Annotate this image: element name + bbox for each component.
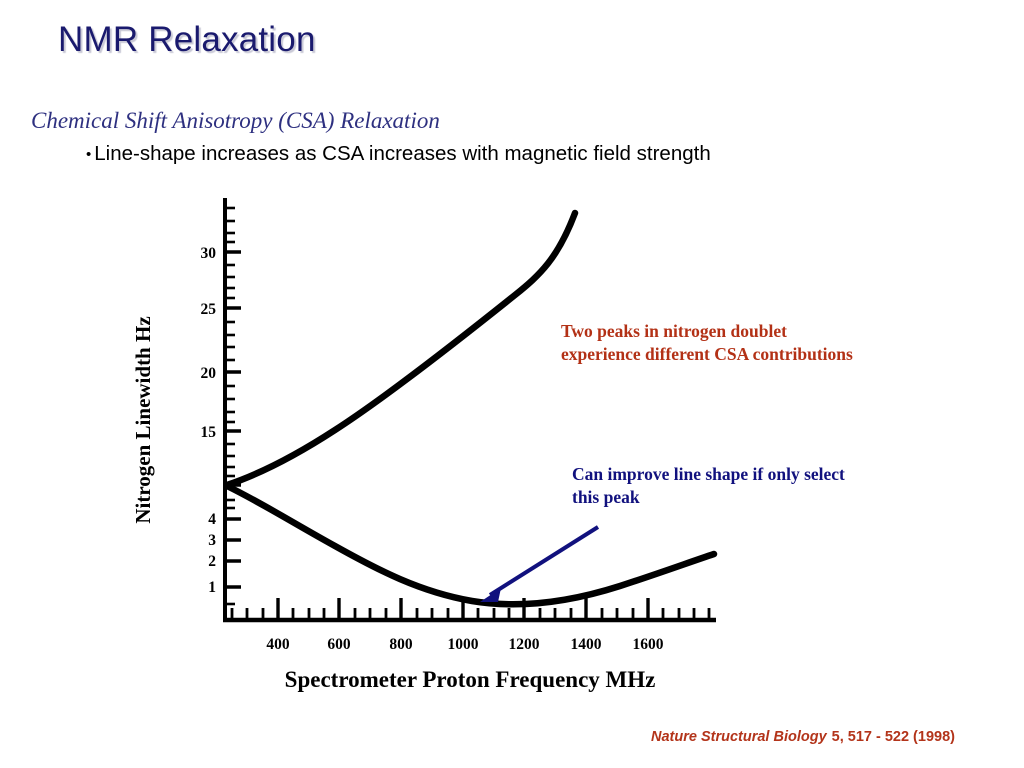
source-citation: Nature Structural Biology5, 517 - 522 (1…	[651, 729, 955, 745]
annotation-two-peaks: Two peaks in nitrogen doublet experience…	[561, 320, 853, 367]
svg-text:2: 2	[208, 553, 216, 570]
svg-text:1200: 1200	[509, 636, 540, 653]
svg-text:3: 3	[208, 532, 216, 549]
citation-journal: Nature Structural Biology	[651, 729, 827, 745]
citation-reference: 5, 517 - 522 (1998)	[832, 729, 955, 745]
svg-text:30: 30	[201, 245, 217, 262]
section-subtitle: Chemical Shift Anisotropy (CSA) Relaxati…	[31, 108, 440, 134]
svg-text:15: 15	[201, 424, 217, 441]
svg-text:1400: 1400	[571, 636, 602, 653]
svg-text:1: 1	[208, 579, 216, 596]
svg-text:400: 400	[266, 636, 290, 653]
bullet-text: Line-shape increases as CSA increases wi…	[94, 142, 710, 165]
x-axis-tick-labels: 400 600 800 1000 1200 1400 1600	[266, 636, 663, 653]
bullet-item: •Line-shape increases as CSA increases w…	[86, 142, 711, 166]
svg-text:20: 20	[201, 365, 217, 382]
annotation-select-peak: Can improve line shape if only select th…	[572, 463, 845, 510]
bullet-marker-icon: •	[86, 146, 91, 163]
svg-text:25: 25	[201, 301, 217, 318]
y-axis-tick-labels: 30 25 20 15 4 3 2 1	[201, 245, 217, 596]
x-axis-title: Spectrometer Proton Frequency MHz	[285, 667, 656, 692]
svg-text:800: 800	[389, 636, 413, 653]
csa-linewidth-chart: 30 25 20 15 4 3 2 1 Nitrogen Linewidth H…	[120, 190, 740, 710]
annotation-arrow	[480, 527, 598, 602]
curve-increasing-linewidth	[227, 213, 575, 485]
y-axis-major-ticks	[225, 252, 241, 587]
svg-text:4: 4	[208, 511, 216, 528]
y-axis-title: Nitrogen Linewidth Hz	[131, 316, 155, 523]
svg-text:600: 600	[327, 636, 351, 653]
svg-text:1000: 1000	[448, 636, 479, 653]
page-title: NMR Relaxation	[58, 20, 316, 60]
svg-text:1600: 1600	[633, 636, 664, 653]
